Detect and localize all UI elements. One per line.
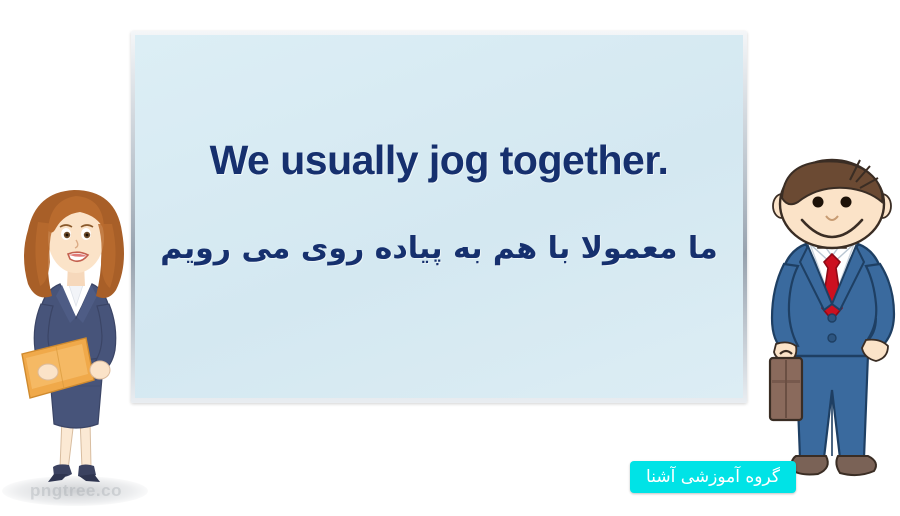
slide-canvas: We usually jog together. ما معمولا با هم… <box>0 0 900 516</box>
man-jacket-button-lower <box>828 334 836 342</box>
man-right-eye <box>841 197 852 208</box>
whiteboard-content: We usually jog together. ما معمولا با هم… <box>135 35 743 398</box>
brand-badge[interactable]: گروه آموزشی آشنا <box>630 461 796 493</box>
whiteboard: We usually jog together. ما معمولا با هم… <box>131 31 747 403</box>
brand-badge-label: گروه آموزشی آشنا <box>646 467 780 487</box>
persian-sentence: ما معمولا با هم به پیاده روی می رویم <box>135 231 743 266</box>
woman-left-hand <box>38 364 58 380</box>
man-left-eye <box>813 197 824 208</box>
man-briefcase <box>770 351 802 420</box>
businesswoman-illustration <box>8 186 144 494</box>
man-shoes <box>792 456 877 475</box>
woman-right-hand <box>90 361 110 379</box>
woman-shoes <box>48 464 100 482</box>
whiteboard-surface: We usually jog together. ما معمولا با هم… <box>135 35 743 398</box>
english-sentence: We usually jog together. <box>135 137 743 184</box>
businessman-illustration <box>762 158 900 503</box>
man-jacket-button-upper <box>828 314 836 322</box>
